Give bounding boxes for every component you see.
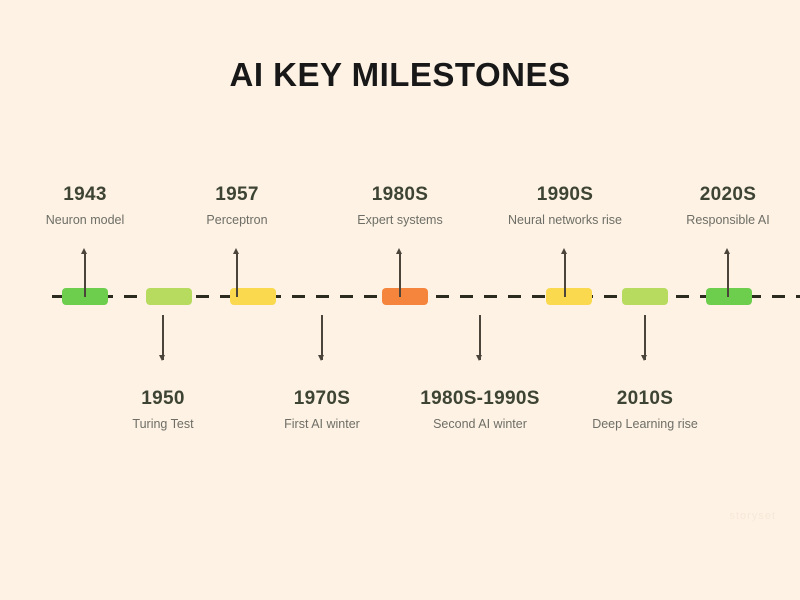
timeline-marker-2 — [146, 288, 192, 305]
arrowhead-up-icon — [724, 248, 730, 254]
page-title: AI KEY MILESTONES — [0, 56, 800, 94]
timeline-marker-7 — [546, 288, 592, 305]
arrowhead-up-icon — [233, 248, 239, 254]
milestone-label-below-4: 2010SDeep Learning rise — [545, 388, 745, 431]
milestone-description: Deep Learning rise — [545, 417, 745, 431]
connector-stem-down-1 — [162, 315, 164, 360]
watermark: storyset — [729, 510, 776, 522]
connector-stem-up-1 — [84, 252, 86, 297]
timeline-marker-4 — [306, 288, 352, 305]
arrowhead-down-icon — [641, 355, 647, 361]
arrowhead-down-icon — [318, 355, 324, 361]
milestone-description: Responsible AI — [628, 213, 800, 227]
connector-stem-up-4 — [564, 252, 566, 297]
connector-stem-down-4 — [644, 315, 646, 360]
arrowhead-up-icon — [81, 248, 87, 254]
arrowhead-up-icon — [396, 248, 402, 254]
connector-stem-up-3 — [399, 252, 401, 297]
milestone-year: 2020S — [628, 184, 800, 206]
arrowhead-down-icon — [476, 355, 482, 361]
milestone-label-above-5: 2020SResponsible AI — [628, 184, 800, 227]
connector-stem-up-5 — [727, 252, 729, 297]
arrowhead-up-icon — [561, 248, 567, 254]
infographic-canvas: AI KEY MILESTONES 1943Neuron model1957Pe… — [0, 0, 800, 600]
connector-stem-down-3 — [479, 315, 481, 360]
connector-stem-down-2 — [321, 315, 323, 360]
timeline-marker-6 — [462, 288, 508, 305]
timeline-marker-8 — [622, 288, 668, 305]
timeline-marker-9 — [706, 288, 752, 305]
arrowhead-down-icon — [159, 355, 165, 361]
timeline-marker-5 — [382, 288, 428, 305]
connector-stem-up-2 — [236, 252, 238, 297]
milestone-year: 2010S — [545, 388, 745, 410]
